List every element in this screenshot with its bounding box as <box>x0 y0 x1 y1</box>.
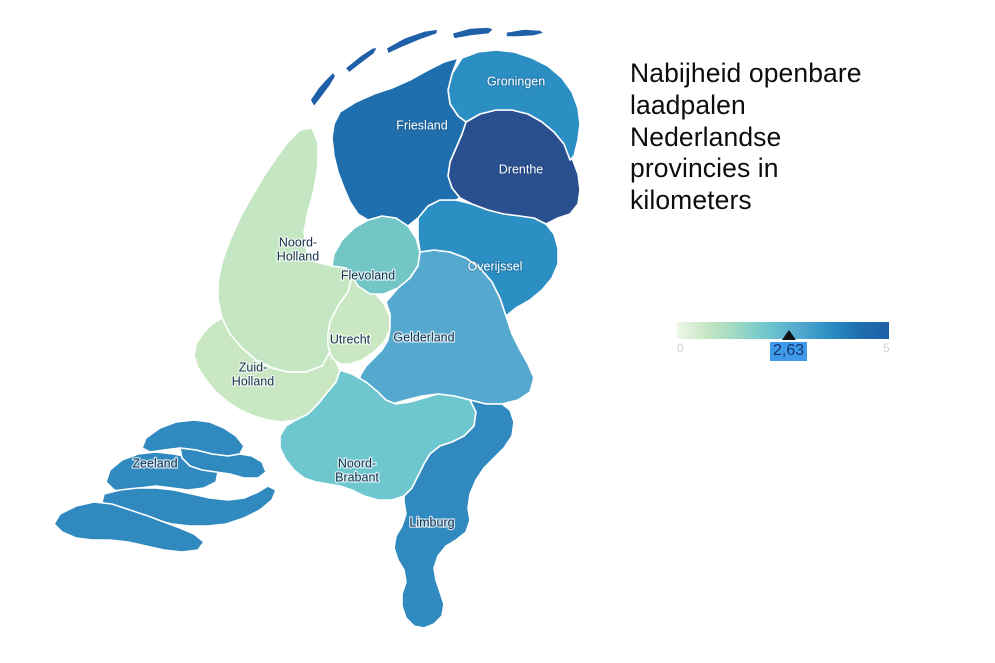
legend-min-label: 0 <box>677 341 684 355</box>
info-panel: Nabijheid openbare laadpalen Nederlandse… <box>620 0 995 663</box>
label-overijssel: Overijssel <box>468 259 523 273</box>
island-schiermonnikoog <box>506 29 545 37</box>
island-terschelling <box>386 29 438 54</box>
legend-caption <box>657 262 883 278</box>
province-zeeland-group[interactable] <box>54 420 276 552</box>
label-noord-brabant-line2: Brabant <box>335 470 379 484</box>
label-zeeland: Zeeland <box>132 456 177 470</box>
page-title: Nabijheid openbare laadpalen Nederlandse… <box>630 58 960 217</box>
label-flevoland: Flevoland <box>341 268 395 282</box>
label-zuid-holland-line1: Zuid- <box>239 360 267 374</box>
legend-marker-value[interactable]: 2,63 <box>770 342 807 361</box>
label-utrecht: Utrecht <box>330 332 371 346</box>
label-groningen: Groningen <box>487 74 545 88</box>
label-noord-holland-line2: Holland <box>277 249 319 263</box>
label-drenthe: Drenthe <box>499 162 544 176</box>
label-friesland: Friesland <box>396 118 447 132</box>
label-zuid-holland-line2: Holland <box>232 374 274 388</box>
map-svg[interactable]: Groningen Friesland Drenthe Overijssel F… <box>0 0 620 663</box>
label-gelderland: Gelderland <box>393 330 454 344</box>
label-noord-brabant-line1: Noord- <box>338 456 376 470</box>
legend-max-label: 5 <box>883 341 890 355</box>
island-vlieland <box>345 47 378 73</box>
island-ameland <box>452 27 494 39</box>
legend-marker-triangle-icon <box>782 330 796 340</box>
label-noord-holland-line1: Noord- <box>279 235 317 249</box>
color-scale-legend[interactable]: 0 5 2,63 <box>655 262 885 372</box>
map-visualization: Groningen Friesland Drenthe Overijssel F… <box>0 0 995 663</box>
island-texel <box>310 72 336 107</box>
province-friesland[interactable] <box>332 58 466 226</box>
label-limburg: Limburg <box>409 515 454 529</box>
netherlands-choropleth-map[interactable]: Groningen Friesland Drenthe Overijssel F… <box>0 0 620 663</box>
